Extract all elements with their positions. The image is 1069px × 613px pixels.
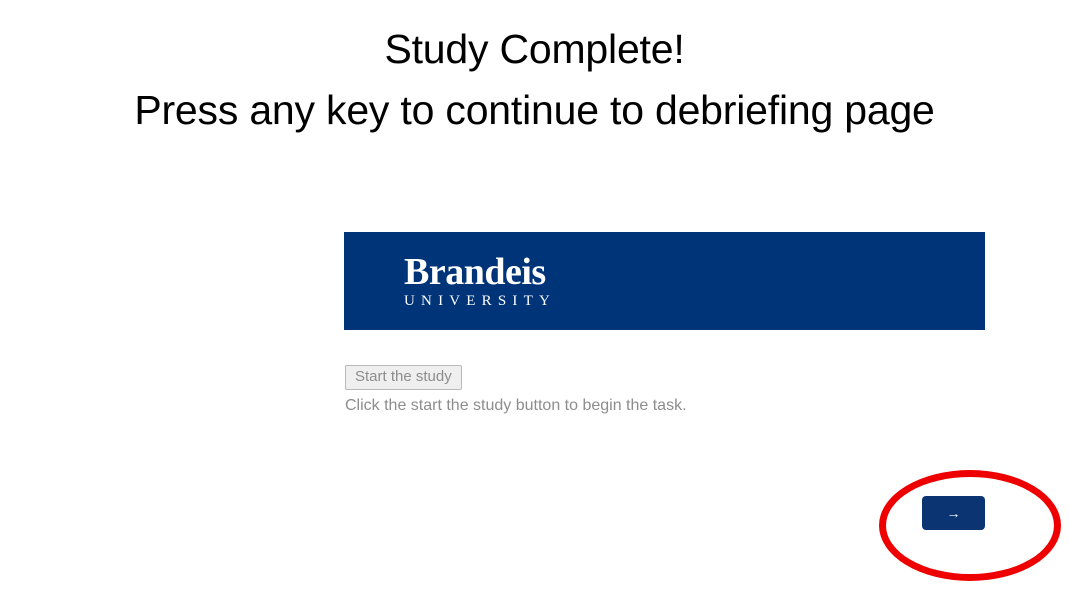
overlay-heading-block: Study Complete! Press any key to continu…	[0, 0, 1069, 133]
study-complete-heading: Study Complete!	[0, 27, 1069, 71]
brandeis-banner: Brandeis UNIVERSITY	[344, 232, 985, 330]
press-any-key-instruction: Press any key to continue to debriefing …	[0, 88, 1069, 132]
institution-subtitle: UNIVERSITY	[404, 293, 556, 310]
institution-name: Brandeis	[404, 254, 556, 291]
start-study-button[interactable]: Start the study	[345, 365, 462, 390]
study-page-container: Brandeis UNIVERSITY Start the study Clic…	[344, 232, 985, 415]
start-study-hint-text: Click the start the study button to begi…	[345, 396, 985, 415]
next-arrow-button[interactable]: →	[922, 496, 985, 530]
brandeis-logo: Brandeis UNIVERSITY	[404, 254, 556, 310]
